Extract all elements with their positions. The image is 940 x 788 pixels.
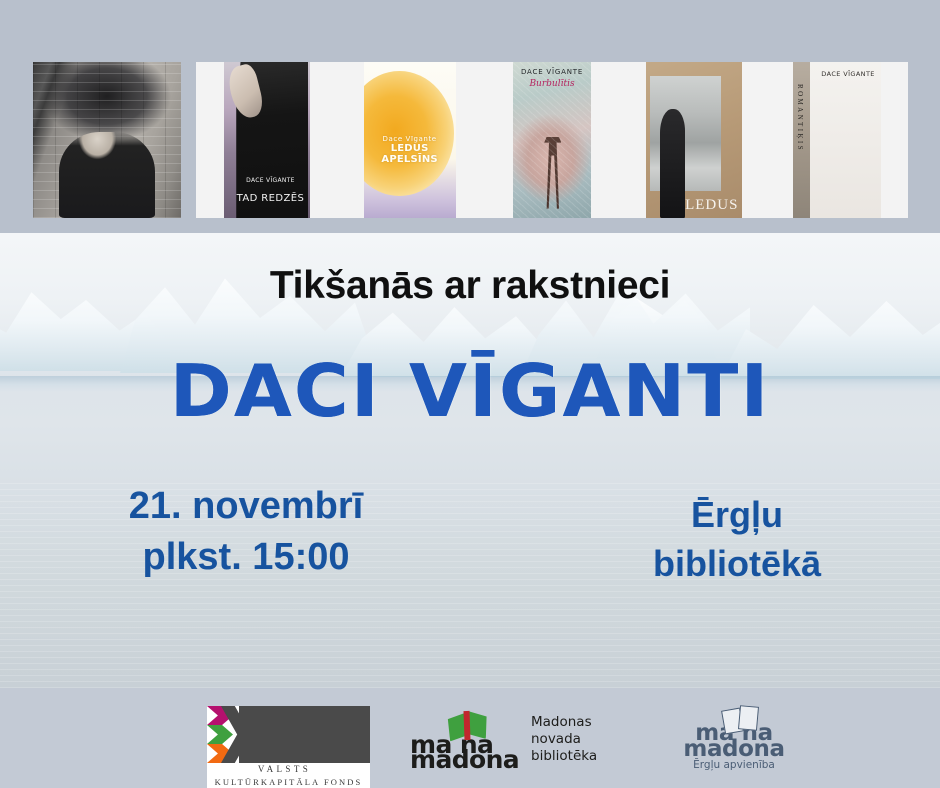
event-date: 21. novembrī xyxy=(36,481,456,532)
book-cover-art: LEDUS xyxy=(646,62,742,218)
book-covers-strip: DACE VĪGANTE TAD REDZĒS Dace Vīgante LED… xyxy=(196,62,908,218)
book-cover-tad-redzes: DACE VĪGANTE TAD REDZĒS xyxy=(196,62,338,218)
book-cover-title: ROMANTIĶIS xyxy=(796,84,804,152)
event-datetime: 21. novembrī plkst. 15:00 xyxy=(36,481,456,584)
vkkf-logomark xyxy=(207,706,370,763)
book-cover-title: LEDUS xyxy=(685,197,738,214)
author-portrait-photo xyxy=(33,62,181,218)
book-cover-romantikis: ROMANTIĶIS DACE VĪGANTE xyxy=(766,62,908,218)
book-cover-author: DACE VĪGANTE xyxy=(821,70,875,78)
book-cover-art: DACE VĪGANTE Burbulītis xyxy=(513,62,591,218)
madona-word-bottom: madona xyxy=(671,736,797,762)
book-cover-text: Dace Vīgante LEDUS APELSĪNS xyxy=(364,135,456,165)
book-cover-art: DACE VĪGANTE TAD REDZĒS xyxy=(224,62,310,218)
headline: Tikšanās ar rakstnieci xyxy=(0,264,940,308)
madona-word-bottom: madona xyxy=(410,745,519,774)
book-cover-burbulitis: DACE VĪGANTE Burbulītis xyxy=(481,62,623,218)
madona-logomark: ma na madona xyxy=(410,712,522,766)
book-cover-title: TAD REDZĒS xyxy=(237,193,305,205)
book-cover-author: DACE VĪGANTE xyxy=(513,68,591,76)
book-cover-author: DACE VĪGANTE xyxy=(237,178,305,185)
book-cover-text: DACE VĪGANTE Burbulītis xyxy=(513,68,591,89)
venue-place: Ērgļu xyxy=(572,491,902,540)
open-book-icon xyxy=(723,706,759,732)
logo-madonas-novada-biblioteka: ma na madona Madonas novada bibliotēka xyxy=(410,706,622,772)
madona-library-label: Madonas novada bibliotēka xyxy=(531,714,597,765)
logo-erglu-apvieniba: ma na madona Ērgļu apvienība xyxy=(650,706,818,776)
book-cover-title: LEDUS APELSĪNS xyxy=(364,143,456,165)
book-cover-ledus: LEDUS xyxy=(623,62,765,218)
venue-name: bibliotēkā xyxy=(572,540,902,589)
book-cover-art: Dace Vīgante LEDUS APELSĪNS xyxy=(364,62,456,218)
event-time: plkst. 15:00 xyxy=(36,532,456,583)
book-cover-ledus-apelsins: Dace Vīgante LEDUS APELSĪNS xyxy=(338,62,480,218)
header-band: DACE VĪGANTE TAD REDZĒS Dace Vīgante LED… xyxy=(0,0,940,233)
logo-valsts-kulturkapitala-fonds: VALSTS KULTŪRKAPITĀLA FONDS xyxy=(207,706,370,788)
guest-name: DACI VĪGANTI xyxy=(0,349,940,433)
vkkf-label-line-2: KULTŪRKAPITĀLA FONDS xyxy=(207,777,370,787)
book-cover-text: DACE VĪGANTE TAD REDZĒS xyxy=(237,178,305,204)
event-venue: Ērgļu bibliotēkā xyxy=(572,491,902,588)
book-cover-art: ROMANTIĶIS DACE VĪGANTE xyxy=(793,62,881,218)
open-book-icon xyxy=(448,712,490,742)
vkkf-dark-block xyxy=(239,706,370,763)
book-cover-title: Burbulītis xyxy=(513,79,591,89)
vkkf-label-line-1: VALSTS xyxy=(207,764,362,774)
poster-text-layer: Tikšanās ar rakstnieci DACI VĪGANTI 21. … xyxy=(0,233,940,688)
erglu-logomark: ma na madona xyxy=(671,706,797,756)
event-poster: DACE VĪGANTE TAD REDZĒS Dace Vīgante LED… xyxy=(0,0,940,788)
